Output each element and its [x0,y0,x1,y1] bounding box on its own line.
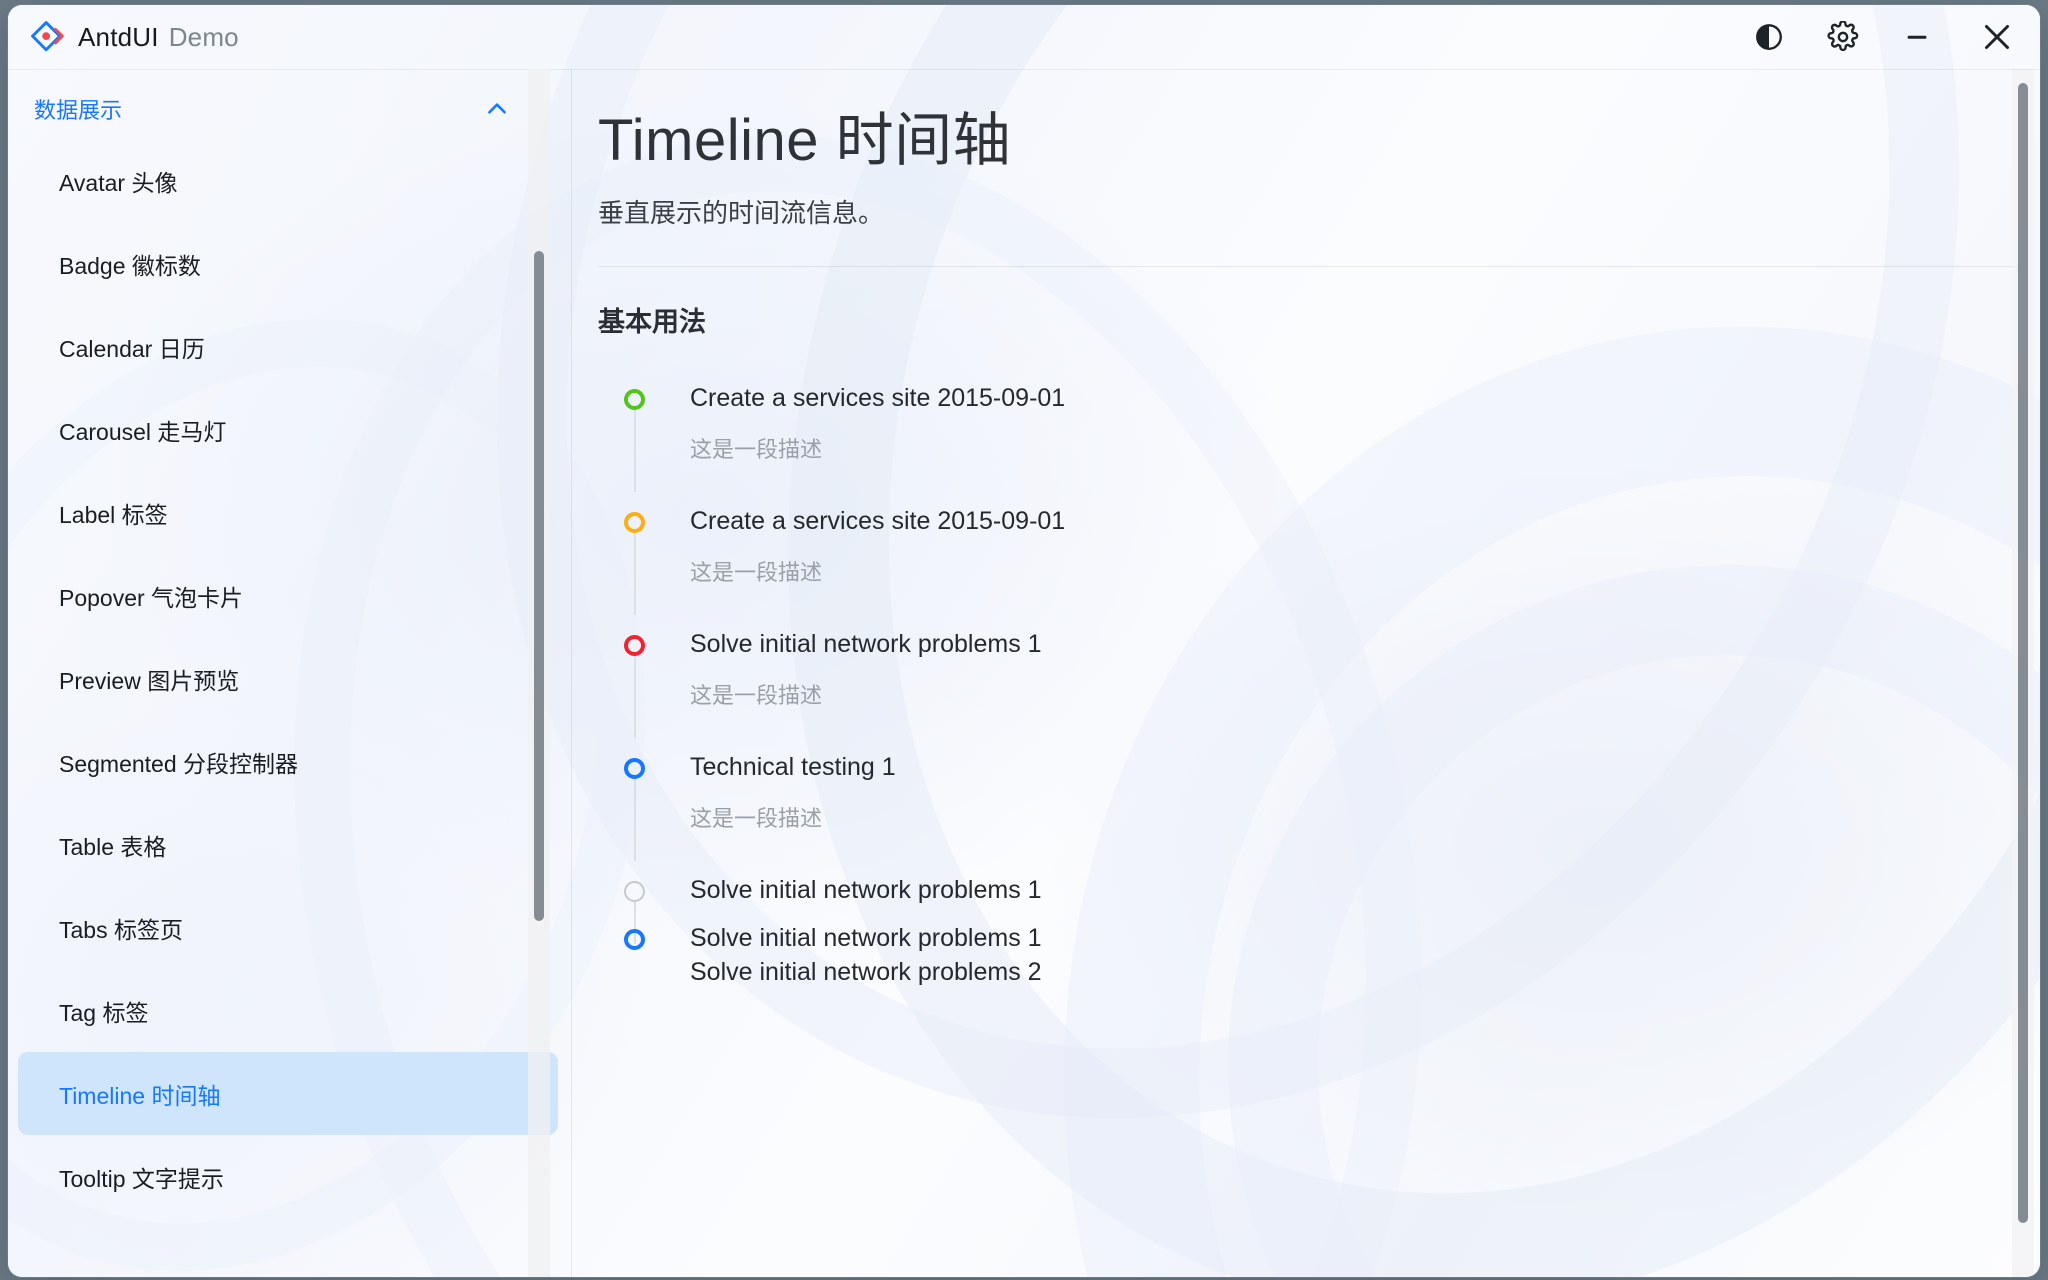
brand-subtitle: Demo [169,22,239,52]
antdui-diamond-logo-icon [30,20,64,54]
timeline-tail [634,410,636,492]
minimize-button[interactable] [1880,5,1954,69]
sidebar-scrollbar-thumb[interactable] [534,251,544,921]
header-divider [572,69,2040,70]
app-window: AntdUIDemo [8,5,2040,1277]
sidebar-item-label: Calendar 日历 [59,330,205,364]
chevron-up-icon[interactable] [482,94,512,124]
timeline-item-description: 这是一段描述 [690,432,1624,464]
timeline-dot-icon [624,389,645,410]
title-bar: AntdUIDemo [8,5,2040,69]
timeline-item-title: Technical testing 1 [690,750,1624,784]
sidebar-item-12[interactable]: Timeline 时间轴 [18,1052,558,1135]
minimize-icon [1902,22,1932,52]
sidebar-item-7[interactable]: Preview 图片预览 [18,637,558,720]
page-title: Timeline 时间轴 [598,93,2002,177]
sidebar-item-6[interactable]: Popover 气泡卡片 [18,554,558,637]
timeline-item-title: Create a services site 2015-09-01 [690,504,1624,538]
sidebar-item-10[interactable]: Tabs 标签页 [18,886,558,969]
sidebar-item-11[interactable]: Tag 标签 [18,969,558,1052]
timeline-dot-icon [624,758,645,779]
timeline-dot-icon [624,881,645,902]
close-icon [1979,19,2015,55]
sidebar-item-label: Carousel 走马灯 [59,413,226,447]
sidebar-group-title: 数据展示 [34,93,122,125]
close-button[interactable] [1954,5,2040,69]
timeline-item-title: Solve initial network problems 1 Solve i… [690,921,1624,989]
sidebar-group-header[interactable]: 数据展示 [8,69,572,139]
sidebar-item-3[interactable]: Calendar 日历 [18,305,558,388]
section-title: 基本用法 [598,300,2002,339]
timeline-item: Solve initial network problems 1 Solve i… [624,921,1624,1001]
timeline-tail [634,779,636,861]
timeline-item-title: Solve initial network problems 1 [690,627,1624,661]
sidebar-item-2[interactable]: Badge 徽标数 [18,222,558,305]
sidebar-item-4[interactable]: Carousel 走马灯 [18,388,558,471]
app-title: AntdUIDemo [78,22,239,53]
timeline-tail [634,656,636,738]
main-scroll-area: Timeline 时间轴 垂直展示的时间流信息。 基本用法 Create a s… [572,69,2002,1277]
timeline-item: Solve initial network problems 1这是一段描述 [624,627,1624,750]
timeline-item-description: 这是一段描述 [690,555,1624,587]
brand-name: AntdUI [78,22,159,52]
timeline-item: Technical testing 1这是一段描述 [624,750,1624,873]
timeline-item-title: Solve initial network problems 1 [690,873,1624,907]
timeline-tail [634,533,636,615]
sidebar-scroll-area: 数据展示 Avatar 头像Badge 徽标数Calendar 日历Carous… [8,69,572,1277]
gear-icon [1827,21,1859,53]
timeline-dot-icon [624,929,645,950]
sidebar-item-label: Popover 气泡卡片 [59,579,243,613]
sidebar-item-label: Tag 标签 [59,994,148,1028]
sidebar-item-5[interactable]: Label 标签 [18,471,558,554]
main-scrollbar[interactable] [2012,69,2034,1277]
timeline-dot-icon [624,512,645,533]
sidebar-item-8[interactable]: Segmented 分段控制器 [18,720,558,803]
timeline-item: Create a services site 2015-09-01这是一段描述 [624,381,1624,504]
sidebar-item-13[interactable]: Tooltip 文字提示 [18,1135,558,1218]
section-divider [598,266,2018,267]
main-panel: Timeline 时间轴 垂直展示的时间流信息。 基本用法 Create a s… [572,69,2040,1277]
sidebar-item-1[interactable]: Avatar 头像 [18,139,558,222]
sidebar-item-label: Avatar 头像 [59,164,177,198]
sidebar-item-label: Tooltip 文字提示 [59,1160,224,1194]
timeline: Create a services site 2015-09-01这是一段描述C… [624,381,1624,1001]
sidebar-content-divider [571,69,572,1277]
sidebar-item-label: Preview 图片预览 [59,662,239,696]
timeline-item-description: 这是一段描述 [690,801,1624,833]
timeline-item-title: Create a services site 2015-09-01 [690,381,1624,415]
sidebar-item-label: Timeline 时间轴 [59,1077,220,1111]
sidebar-scrollbar[interactable] [528,69,550,1277]
settings-button[interactable] [1806,5,1880,69]
timeline-item: Solve initial network problems 1 [624,873,1624,921]
timeline-item: Create a services site 2015-09-01这是一段描述 [624,504,1624,627]
sidebar-item-label: Badge 徽标数 [59,247,201,281]
timeline-dot-icon [624,635,645,656]
sidebar-item-9[interactable]: Table 表格 [18,803,558,886]
brand: AntdUIDemo [8,20,239,54]
main-scrollbar-thumb[interactable] [2018,83,2028,1223]
sidebar-item-label: Table 表格 [59,828,166,862]
sidebar-item-label: Segmented 分段控制器 [59,745,298,779]
sidebar: 数据展示 Avatar 头像Badge 徽标数Calendar 日历Carous… [8,69,572,1277]
page-subtitle: 垂直展示的时间流信息。 [598,193,2002,230]
sidebar-item-label: Tabs 标签页 [59,911,183,945]
sidebar-nav-list: Avatar 头像Badge 徽标数Calendar 日历Carousel 走马… [8,139,572,1218]
timeline-item-description: 这是一段描述 [690,678,1624,710]
sidebar-item-label: Label 标签 [59,496,168,530]
window-controls [1732,5,2040,69]
contrast-icon [1754,22,1784,52]
theme-toggle-button[interactable] [1732,5,1806,69]
